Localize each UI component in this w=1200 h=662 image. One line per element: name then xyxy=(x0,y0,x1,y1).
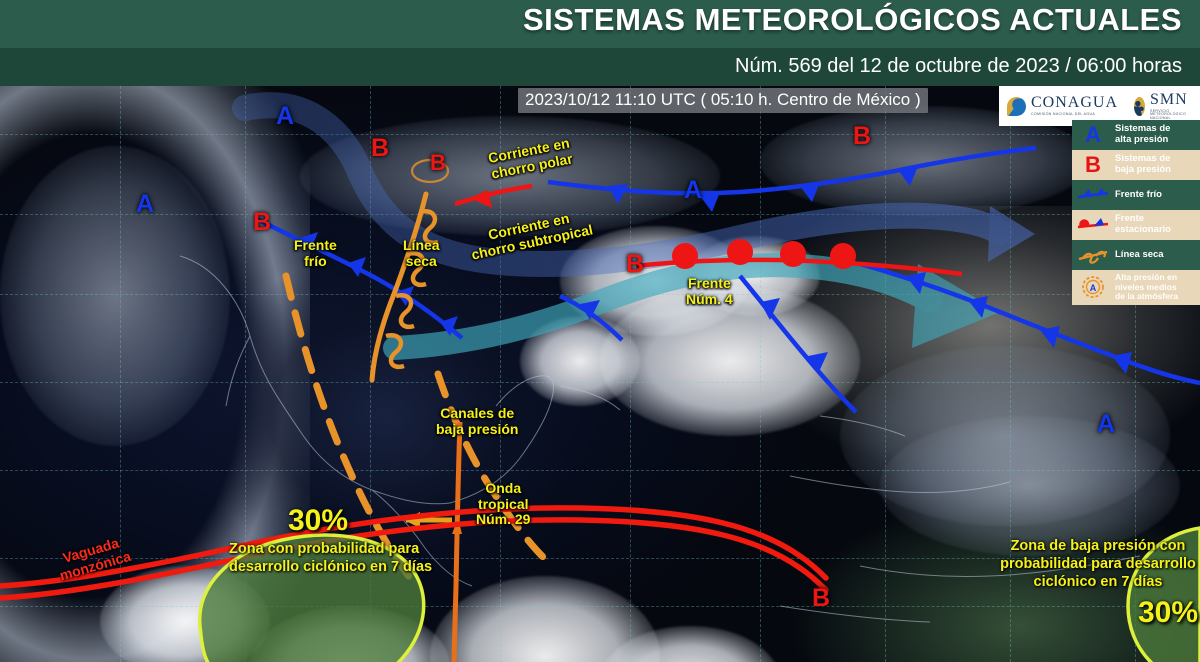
conagua-logo: CONAGUA COMISIÓN NACIONAL DEL AGUA xyxy=(1007,95,1118,117)
page-title: SISTEMAS METEOROLÓGICOS ACTUALES xyxy=(523,2,1182,38)
weather-bulletin-page: SISTEMAS METEOROLÓGICOS ACTUALES Núm. 56… xyxy=(0,0,1200,662)
high-pressure-marker: A xyxy=(1097,412,1115,437)
smn-logo: SMN SERVICIO METEOROLÓGICO NACIONAL xyxy=(1134,92,1196,121)
atlantic-zone-percent: 30% xyxy=(1138,596,1198,630)
low-pressure-marker: B xyxy=(853,124,871,149)
tropical-wave-label: Onda tropical Núm. 29 xyxy=(476,481,530,528)
smn-name: SMN xyxy=(1150,92,1196,108)
polar-jet-stream xyxy=(245,105,1035,264)
legend-label-high-pressure: Sistemas de alta presión xyxy=(1115,124,1170,145)
satellite-timestamp: 2023/10/12 11:10 UTC ( 05:10 h. Centro d… xyxy=(518,88,928,113)
map-legend: A Sistemas de alta presión B Sistemas de… xyxy=(1072,120,1200,305)
legend-item-dry-line: Línea seca xyxy=(1072,240,1200,270)
legend-label-mid-level-high: Alta presión en niveles medios de la atm… xyxy=(1115,273,1178,302)
high-pressure-marker: A xyxy=(136,192,154,217)
low-pressure-marker: B xyxy=(430,152,446,174)
legend-item-stationary-front: Frente estacionario xyxy=(1072,210,1200,240)
dry-line-label: Línea seca xyxy=(403,238,440,269)
smn-logo-icon xyxy=(1134,97,1145,116)
mid-level-high-icon: A xyxy=(1076,275,1110,299)
pacific-zone-percent: 30% xyxy=(288,504,348,538)
legend-label-dry-line: Línea seca xyxy=(1115,250,1164,261)
conagua-tagline: COMISIÓN NACIONAL DEL AGUA xyxy=(1031,113,1118,117)
low-pressure-marker: B xyxy=(812,586,830,611)
bulletin-number: Núm. 569 del 12 de octubre de 2023 / 06:… xyxy=(735,55,1182,78)
smn-tagline: SERVICIO METEOROLÓGICO NACIONAL xyxy=(1150,110,1196,121)
svg-text:A: A xyxy=(1090,283,1097,293)
dry-line-icon xyxy=(1076,243,1110,267)
cold-front-label: Frente frío xyxy=(294,238,337,269)
conagua-logo-icon xyxy=(1007,97,1026,116)
legend-item-high-pressure: A Sistemas de alta presión xyxy=(1072,120,1200,150)
legend-label-cold-front: Frente frío xyxy=(1115,190,1162,201)
satellite-weather-map: A B B A B B A B A B Corriente en chorro … xyxy=(0,86,1200,662)
high-pressure-marker: A xyxy=(276,104,294,129)
cold-front-gulf-south-barbs xyxy=(760,298,828,374)
cold-front-icon xyxy=(1076,183,1110,207)
legend-symbol-A: A xyxy=(1085,124,1101,146)
stationary-front-icon xyxy=(1076,213,1110,237)
low-pressure-marker: B xyxy=(626,252,644,277)
legend-label-low-pressure: Sistemas de baja presión xyxy=(1115,154,1171,175)
cold-front-gulf-south xyxy=(740,276,856,412)
low-pressure-icon: B xyxy=(1076,153,1110,177)
legend-symbol-B: B xyxy=(1085,154,1101,176)
legend-item-low-pressure: B Sistemas de baja presión xyxy=(1072,150,1200,180)
pacific-zone-text: Zona con probabilidad para desarrollo ci… xyxy=(229,540,432,576)
conagua-name: CONAGUA xyxy=(1031,95,1118,111)
high-pressure-icon: A xyxy=(1076,123,1110,147)
legend-item-cold-front: Frente frío xyxy=(1072,180,1200,210)
high-pressure-marker: A xyxy=(684,178,702,203)
front-number-label: Frente Núm. 4 xyxy=(686,276,733,307)
stationary-front-north xyxy=(455,186,532,208)
legend-item-mid-level-high: A Alta presión en niveles medios de la a… xyxy=(1072,270,1200,305)
legend-label-stationary-front: Frente estacionario xyxy=(1115,214,1171,235)
low-pressure-marker: B xyxy=(371,136,389,161)
low-pressure-marker: B xyxy=(253,210,271,235)
atlantic-zone-text: Zona de baja presión con probabilidad pa… xyxy=(1000,537,1196,591)
low-pressure-channels-label: Canales de baja presión xyxy=(436,406,518,437)
